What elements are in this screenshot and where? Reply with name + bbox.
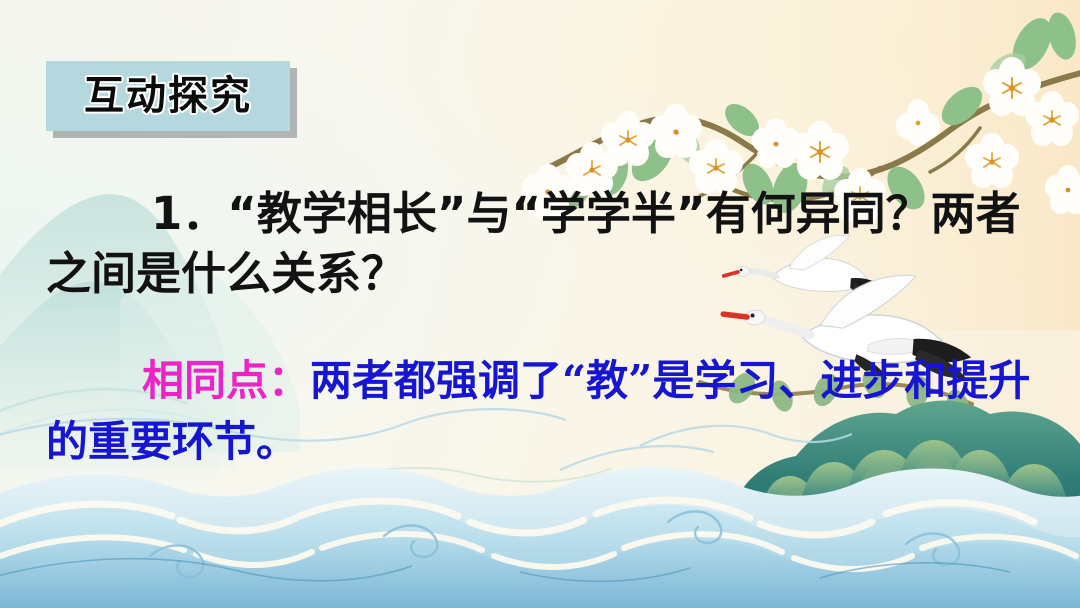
slide-canvas: 互动探究 1．“教学相长”与“学学半”有何异同？两者之间是什么关系？ 相同点：两… [0, 0, 1080, 608]
question-text: 1．“教学相长”与“学学半”有何异同？两者之间是什么关系？ [46, 184, 1036, 305]
section-title-label: 互动探究 [84, 76, 252, 116]
question-block: 1．“教学相长”与“学学半”有何异同？两者之间是什么关系？ [46, 184, 1036, 305]
answer-text: 相同点：两者都强调了“教”是学习、进步和提升的重要环节。 [46, 350, 1046, 473]
answer-lead-label: 相同点： [142, 356, 310, 405]
section-title-badge: 互动探究 [46, 61, 290, 131]
answer-block: 相同点：两者都强调了“教”是学习、进步和提升的重要环节。 [46, 350, 1046, 473]
